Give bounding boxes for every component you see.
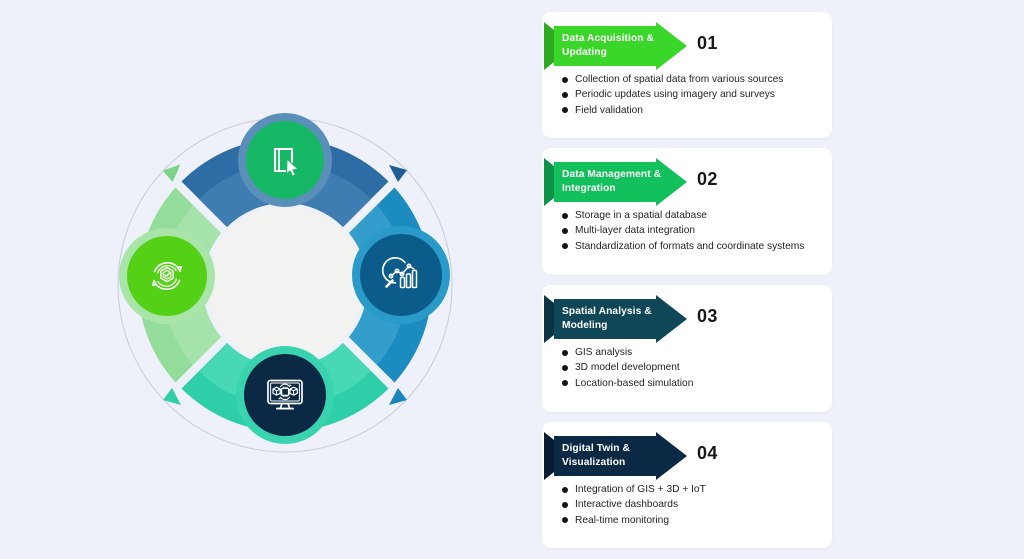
list-item: Collection of spatial data from various … [562, 72, 822, 87]
bullet-dot-icon [562, 365, 568, 371]
hub-sync-validation[interactable] [127, 236, 207, 316]
bullet-dot-icon [562, 228, 568, 234]
bullet-text: Periodic updates using imagery and surve… [575, 89, 775, 100]
list-item: Field validation [562, 103, 822, 118]
ribbon-label-01: Data Acquisition & Updating [544, 32, 669, 60]
magnifier-chart-icon [379, 253, 423, 297]
bullet-text: Storage in a spatial database [575, 210, 707, 221]
bullet-text: Integration of GIS + 3D + IoT [575, 484, 706, 495]
bullet-text: Standardization of formats and coordinat… [575, 241, 804, 252]
refresh-shield-check-icon [145, 254, 189, 298]
list-item: Integration of GIS + 3D + IoT [562, 482, 822, 497]
bullet-dot-icon [562, 487, 568, 493]
ribbon-02: Data Management & Integration [544, 158, 687, 206]
bullet-text: GIS analysis [575, 347, 632, 358]
bullet-list-04: Integration of GIS + 3D + IoT Interactiv… [542, 482, 832, 528]
ribbon-03: Spatial Analysis & Modeling [544, 295, 687, 343]
infographic-page: Data Acquisition & Updating 01 Collectio… [0, 0, 1024, 559]
bullet-dot-icon [562, 517, 568, 523]
ribbon-label-03: Spatial Analysis & Modeling [544, 305, 669, 333]
hub-analytics-search[interactable] [360, 234, 442, 316]
monitor-3d-chip-icon [262, 372, 308, 418]
ribbon-row-03: Spatial Analysis & Modeling 03 [542, 285, 832, 337]
ribbon-04: Digital Twin & Visualization [544, 432, 687, 480]
bullet-text: Real-time monitoring [575, 515, 669, 526]
hub-document-cursor[interactable] [246, 121, 324, 199]
step-card-03[interactable]: Spatial Analysis & Modeling 03 GIS analy… [542, 285, 832, 412]
bullet-text: Field validation [575, 105, 643, 116]
ribbon-01: Data Acquisition & Updating [544, 22, 687, 70]
bullet-dot-icon [562, 77, 568, 83]
list-item: Location-based simulation [562, 376, 822, 391]
bullet-text: Location-based simulation [575, 378, 693, 389]
step-number-03: 03 [697, 306, 718, 327]
bullet-list-02: Storage in a spatial database Multi-laye… [542, 208, 832, 254]
list-item: Storage in a spatial database [562, 208, 822, 223]
bullet-dot-icon [562, 213, 568, 219]
hub-digital-twin[interactable] [244, 354, 326, 436]
ribbon-label-02: Data Management & Integration [544, 168, 669, 196]
ribbon-row-04: Digital Twin & Visualization 04 [542, 422, 832, 474]
bullet-dot-icon [562, 243, 568, 249]
list-item: Real-time monitoring [562, 513, 822, 528]
ribbon-label-04: Digital Twin & Visualization [544, 442, 669, 470]
step-card-02[interactable]: Data Management & Integration 02 Storage… [542, 148, 832, 275]
bullet-dot-icon [562, 350, 568, 356]
cycle-diagram [0, 0, 520, 559]
bullet-dot-icon [562, 92, 568, 98]
bullet-list-01: Collection of spatial data from various … [542, 72, 832, 118]
list-item: Periodic updates using imagery and surve… [562, 87, 822, 102]
arrow-marker-top-left [163, 164, 182, 182]
list-item: Interactive dashboards [562, 497, 822, 512]
bullet-text: Interactive dashboards [575, 499, 678, 510]
step-number-02: 02 [697, 169, 718, 190]
document-cursor-icon [265, 140, 305, 180]
steps-list: Data Acquisition & Updating 01 Collectio… [542, 12, 832, 558]
list-item: Multi-layer data integration [562, 223, 822, 238]
ribbon-row-02: Data Management & Integration 02 [542, 148, 832, 200]
ribbon-row-01: Data Acquisition & Updating 01 [542, 12, 832, 64]
step-card-01[interactable]: Data Acquisition & Updating 01 Collectio… [542, 12, 832, 138]
bullet-dot-icon [562, 107, 568, 113]
list-item: Standardization of formats and coordinat… [562, 239, 822, 254]
step-number-04: 04 [697, 443, 718, 464]
bullet-dot-icon [562, 502, 568, 508]
bullet-dot-icon [562, 380, 568, 386]
bullet-text: Collection of spatial data from various … [575, 74, 783, 85]
list-item: 3D model development [562, 360, 822, 375]
step-card-04[interactable]: Digital Twin & Visualization 04 Integrat… [542, 422, 832, 548]
cycle-center-disc [207, 207, 363, 363]
step-number-01: 01 [697, 33, 718, 54]
bullet-text: Multi-layer data integration [575, 225, 695, 236]
bullet-list-03: GIS analysis 3D model development Locati… [542, 345, 832, 391]
bullet-text: 3D model development [575, 362, 680, 373]
list-item: GIS analysis [562, 345, 822, 360]
